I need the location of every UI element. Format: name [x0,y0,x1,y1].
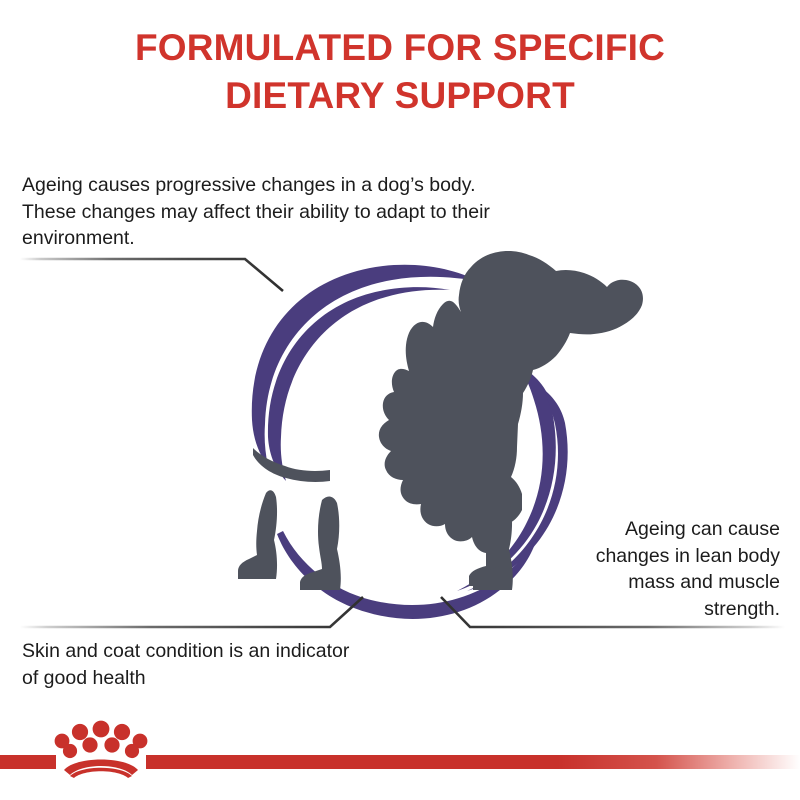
royal-canin-crown-icon [50,718,152,778]
leader-lines [0,0,800,800]
footer-rule-right-segment [146,755,800,769]
leader-line-top-left [20,259,283,291]
infographic-page: FORMULATED FOR SPECIFIC DIETARY SUPPORT [0,0,800,800]
footer-rule-left-segment [0,755,56,769]
leader-line-bottom-left [20,597,363,627]
leader-line-right [441,597,785,627]
